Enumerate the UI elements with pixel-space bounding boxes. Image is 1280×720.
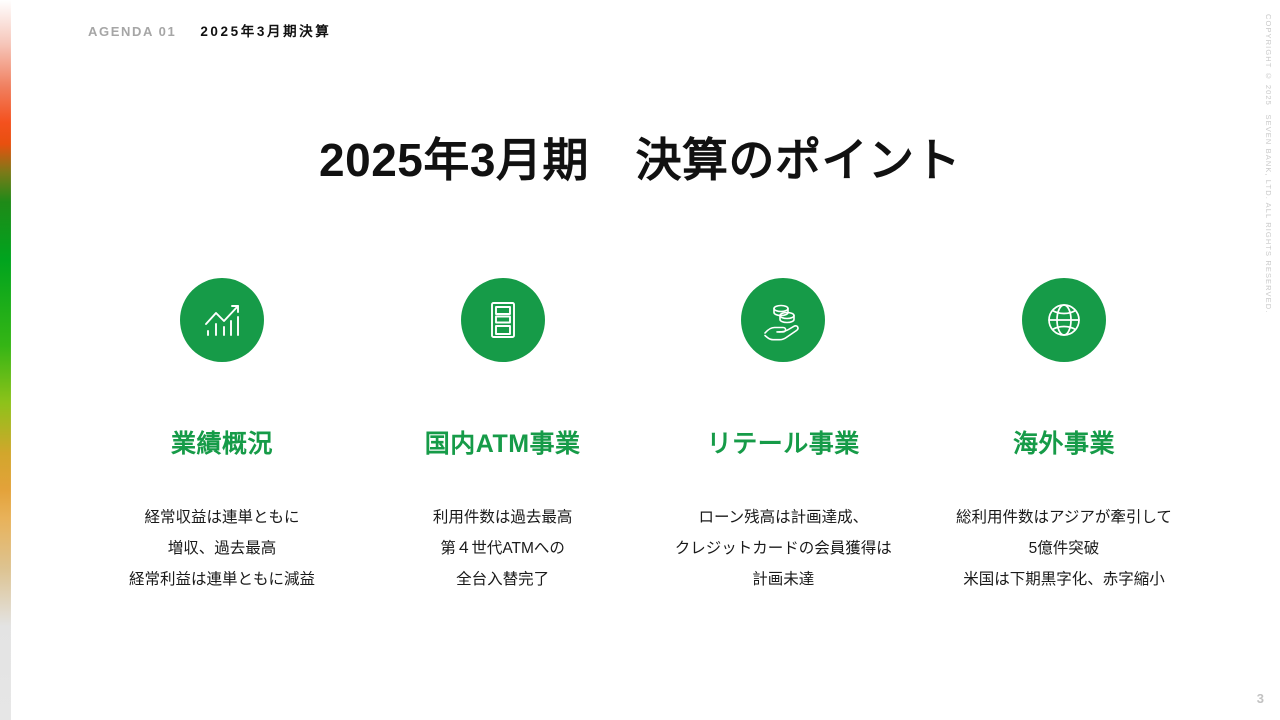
column-body-text: 総利用件数はアジアが牽引して 5億件突破 米国は下期黒字化、赤字縮小 [956, 502, 1172, 595]
column-heading: 業績概況 [171, 424, 273, 460]
column-heading: 海外事業 [1013, 424, 1115, 460]
atm-machine-icon [461, 278, 545, 362]
page-title: 2025年3月期 決算のポイント [0, 124, 1280, 190]
column-body-text: 経常収益は連単ともに 増収、過去最高 経常利益は連単ともに減益 [129, 502, 315, 595]
page-number: 3 [1257, 691, 1264, 706]
hand-holding-coins-icon [741, 278, 825, 362]
globe-icon [1022, 278, 1106, 362]
slide-header: AGENDA 01 2025年3月期決算 [88, 20, 331, 40]
column-performance-overview: 業績概況 経常収益は連単ともに 増収、過去最高 経常利益は連単ともに減益 [88, 278, 356, 595]
column-body-text: ローン残高は計画達成、 クレジットカードの会員獲得は 計画未達 [675, 502, 892, 595]
agenda-label: AGENDA 01 [88, 24, 176, 39]
left-gradient-accent-bar [0, 0, 11, 720]
column-heading: リテール事業 [707, 424, 860, 460]
column-retail: リテール事業 ローン残高は計画達成、 クレジットカードの会員獲得は 計画未達 [649, 278, 917, 595]
agenda-title: 2025年3月期決算 [200, 20, 331, 40]
column-body-text: 利用件数は過去最高 第４世代ATMへの 全台入替完了 [433, 502, 573, 595]
copyright-notice: COPYRIGHT © 2025 SEVEN BANK, LTD. ALL RI… [1263, 14, 1274, 313]
slide: AGENDA 01 2025年3月期決算 2025年3月期 決算のポイント 業績… [0, 0, 1280, 720]
column-domestic-atm: 国内ATM事業 利用件数は過去最高 第４世代ATMへの 全台入替完了 [369, 278, 637, 595]
bar-chart-trend-icon [180, 278, 264, 362]
column-overseas: 海外事業 総利用件数はアジアが牽引して 5億件突破 米国は下期黒字化、赤字縮小 [930, 278, 1198, 595]
column-heading: 国内ATM事業 [425, 424, 581, 460]
highlight-columns: 業績概況 経常収益は連単ともに 増収、過去最高 経常利益は連単ともに減益 国内A… [88, 278, 1198, 595]
